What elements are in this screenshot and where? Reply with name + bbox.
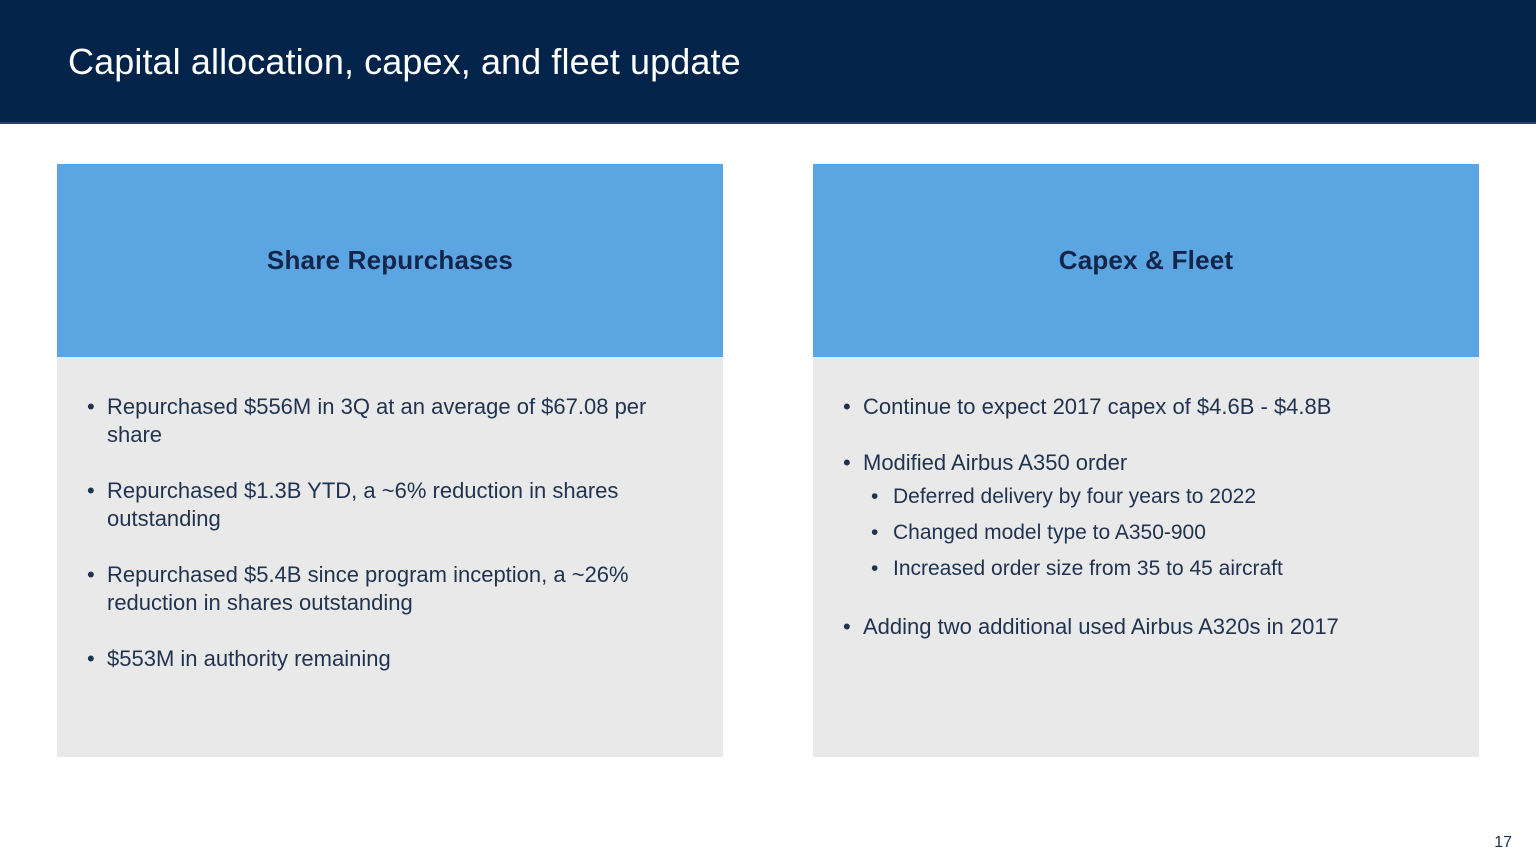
panel-capex-and-fleet: Capex & Fleet • Continue to expect 2017 … — [813, 164, 1479, 757]
bullet-marker-icon: • — [87, 477, 95, 505]
panel-header-label: Share Repurchases — [267, 245, 513, 276]
bullet-text: Repurchased $556M in 3Q at an average of… — [107, 394, 646, 447]
bullet-text: Changed model type to A350-900 — [893, 521, 1206, 544]
list-item: • Continue to expect 2017 capex of $4.6B… — [827, 393, 1457, 421]
list-item: • Changed model type to A350-900 — [863, 517, 1457, 549]
list-item: • $553M in authority remaining — [71, 645, 701, 673]
bullet-marker-icon: • — [843, 393, 851, 421]
panel-header-label: Capex & Fleet — [1059, 245, 1234, 276]
bullet-text: Repurchased $1.3B YTD, a ~6% reduction i… — [107, 478, 618, 531]
panel-body-share-repurchases: • Repurchased $556M in 3Q at an average … — [57, 357, 723, 757]
bullet-list-capex-and-fleet: • Continue to expect 2017 capex of $4.6B… — [827, 393, 1457, 641]
bullet-marker-icon: • — [871, 553, 878, 585]
list-item: • Deferred delivery by four years to 202… — [863, 481, 1457, 513]
page-number: 17 — [1494, 834, 1512, 852]
bullet-marker-icon: • — [843, 613, 851, 641]
bullet-list-share-repurchases: • Repurchased $556M in 3Q at an average … — [71, 393, 701, 673]
list-item: • Increased order size from 35 to 45 air… — [863, 553, 1457, 585]
bullet-text: Continue to expect 2017 capex of $4.6B -… — [863, 394, 1331, 419]
bullet-text: Adding two additional used Airbus A320s … — [863, 614, 1339, 639]
bullet-text: Modified Airbus A350 order — [863, 450, 1127, 475]
panel-body-capex-and-fleet: • Continue to expect 2017 capex of $4.6B… — [813, 357, 1479, 757]
bullet-marker-icon: • — [87, 561, 95, 589]
list-item: • Modified Airbus A350 order • Deferred … — [827, 449, 1457, 585]
bullet-marker-icon: • — [87, 393, 95, 421]
bullet-text: $553M in authority remaining — [107, 646, 391, 671]
panel-header-share-repurchases: Share Repurchases — [57, 164, 723, 357]
list-item: • Repurchased $5.4B since program incept… — [71, 561, 701, 617]
sub-bullet-list-a350-order: • Deferred delivery by four years to 202… — [863, 481, 1457, 585]
bullet-text: Deferred delivery by four years to 2022 — [893, 485, 1256, 508]
list-item: • Repurchased $1.3B YTD, a ~6% reduction… — [71, 477, 701, 533]
bullet-marker-icon: • — [871, 481, 878, 513]
slide-title-bar: Capital allocation, capex, and fleet upd… — [0, 0, 1536, 124]
page-title: Capital allocation, capex, and fleet upd… — [68, 40, 741, 84]
list-item: • Repurchased $556M in 3Q at an average … — [71, 393, 701, 449]
bullet-marker-icon: • — [843, 449, 851, 477]
list-item: • Adding two additional used Airbus A320… — [827, 613, 1457, 641]
bullet-text: Repurchased $5.4B since program inceptio… — [107, 562, 629, 615]
panel-share-repurchases: Share Repurchases • Repurchased $556M in… — [57, 164, 723, 757]
bullet-marker-icon: • — [871, 517, 878, 549]
bullet-text: Increased order size from 35 to 45 aircr… — [893, 557, 1283, 580]
panel-header-capex-and-fleet: Capex & Fleet — [813, 164, 1479, 357]
bullet-marker-icon: • — [87, 645, 95, 673]
